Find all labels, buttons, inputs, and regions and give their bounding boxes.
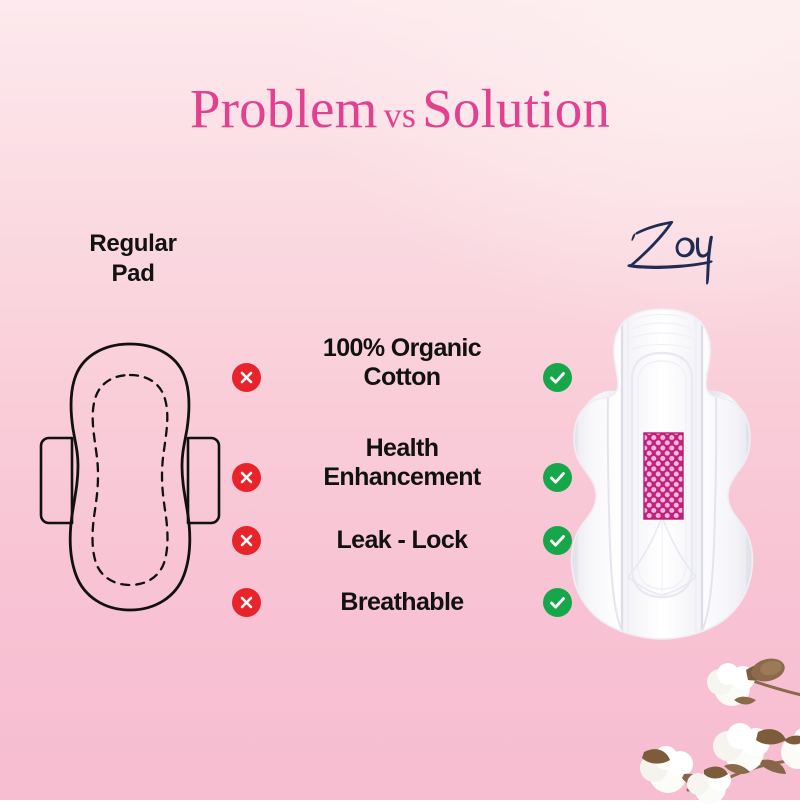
page-title-solution: Solution <box>422 78 610 139</box>
feature-label: 100% Organic Cotton <box>261 334 543 392</box>
regular-pad-illustration <box>32 333 228 621</box>
regular-pad-label: Regular Pad <box>48 229 218 289</box>
feature-label-line2: Enhancement <box>323 463 480 491</box>
cross-icon <box>232 526 261 555</box>
zoy-pad-illustration <box>566 305 758 677</box>
feature-label: Breathable <box>261 588 543 617</box>
feature-label-line1: Health <box>366 434 439 462</box>
check-icon <box>543 363 572 392</box>
page-title-vs: vs <box>378 95 422 135</box>
regular-pad-label-line2: Pad <box>48 259 218 289</box>
cotton-flower-decoration <box>628 648 800 804</box>
cross-icon <box>232 463 261 492</box>
zoy-brand-logo <box>613 213 733 285</box>
feature-label-line1: Breathable <box>340 588 463 616</box>
page-title: ProblemvsSolution <box>0 78 800 146</box>
feature-label: Health Enhancement <box>261 434 543 492</box>
feature-label-line1: 100% Organic <box>323 334 481 362</box>
feature-label-line2: Cotton <box>364 363 441 391</box>
cross-icon <box>232 363 261 392</box>
check-icon <box>543 526 572 555</box>
feature-row: Leak - Lock <box>232 526 572 555</box>
check-icon <box>543 588 572 617</box>
feature-label: Leak - Lock <box>261 526 543 555</box>
cross-icon <box>232 588 261 617</box>
feature-row: Health Enhancement <box>232 434 572 492</box>
check-icon <box>543 463 572 492</box>
feature-row: 100% Organic Cotton <box>232 334 572 392</box>
feature-comparison-list: 100% Organic Cotton Health Enhancement <box>232 334 572 630</box>
poster-canvas: ProblemvsSolution Regular Pad <box>0 0 800 800</box>
page-title-problem: Problem <box>190 78 378 139</box>
feature-row: Breathable <box>232 588 572 617</box>
regular-pad-label-line1: Regular <box>48 229 218 259</box>
feature-label-line1: Leak - Lock <box>337 526 468 554</box>
